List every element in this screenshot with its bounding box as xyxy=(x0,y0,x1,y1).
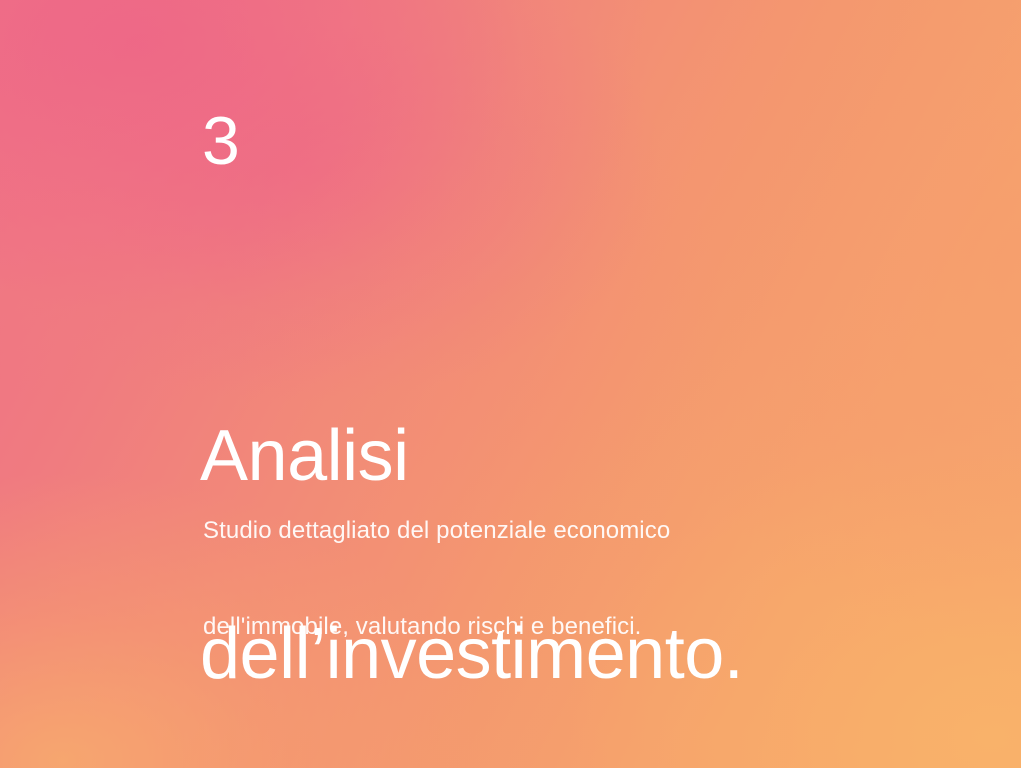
slide-subtitle: Studio dettagliato del potenziale econom… xyxy=(203,451,670,707)
slide-subtitle-line-1: Studio dettagliato del potenziale econom… xyxy=(203,515,670,547)
presentation-slide: 3 Analisi dell’investimento. Studio dett… xyxy=(0,0,1021,768)
slide-content: 3 Analisi dell’investimento. Studio dett… xyxy=(202,0,902,768)
section-number: 3 xyxy=(202,107,240,175)
slide-subtitle-line-2: dell'immobile, valutando rischi e benefi… xyxy=(203,611,670,643)
